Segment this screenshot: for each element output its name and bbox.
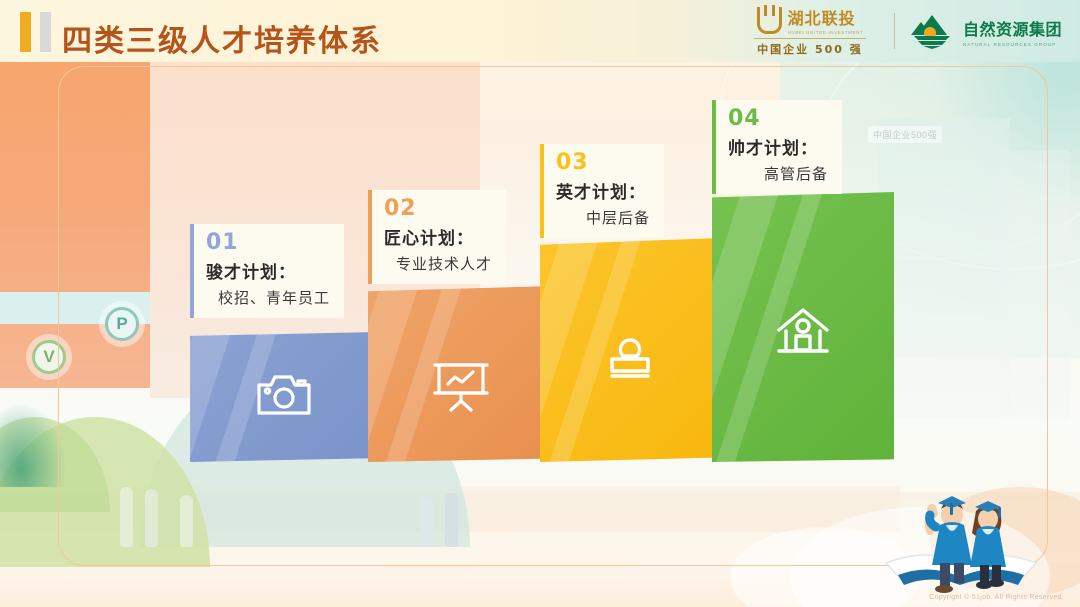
camera-icon (255, 372, 313, 423)
step-block-01 (190, 332, 377, 462)
logo-divider (754, 38, 866, 39)
step-label-03: 03 英才计划： 中层后备 (540, 144, 664, 238)
logo-secondary-name-en: NATURAL RESOURCES GROUP (963, 42, 1062, 47)
title-accent-bar-gray (40, 12, 51, 52)
mountain-sun-icon (909, 13, 955, 49)
logo-primary-name-en: HUBEI UNITED INVESTMENT (788, 30, 864, 35)
step-number: 04 (728, 106, 828, 131)
logo-separator (894, 13, 895, 49)
step-number: 01 (206, 230, 330, 255)
header-bar: 四类三级人才培养体系 湖北联投 HUBEI UNITED INVESTMENT … (0, 0, 1080, 62)
step-number: 02 (384, 196, 492, 221)
step-block-03 (540, 238, 720, 462)
page-title: 四类三级人才培养体系 (62, 16, 382, 60)
step-block-04 (712, 192, 894, 462)
step-label-01: 01 骏才计划： 校招、青年员工 (190, 224, 344, 318)
step-block-02 (368, 286, 553, 462)
step-subtitle: 高管后备 (728, 163, 828, 184)
title-accent-bar-orange (20, 12, 31, 52)
logo-natural-resources-group: 自然资源集团 NATURAL RESOURCES GROUP (909, 13, 1072, 49)
logo-primary-name-cn: 湖北联投 (788, 5, 864, 29)
step-title: 英才计划： (556, 178, 650, 203)
copyright-text: Copyright © 51job. All Rights Reserved. (929, 594, 1064, 601)
logo-hubei-united-investment: 湖北联投 HUBEI UNITED INVESTMENT 中国企业 500 强 (754, 5, 880, 57)
step-subtitle: 专业技术人才 (384, 253, 492, 274)
step-label-02: 02 匠心计划： 专业技术人才 (368, 190, 506, 284)
step-number: 03 (556, 150, 650, 175)
logo-primary-tagline: 中国企业 500 强 (757, 41, 863, 57)
presentation-chart-icon (432, 357, 490, 418)
graduates-illustration (868, 459, 1058, 599)
step-subtitle: 校招、青年员工 (206, 287, 330, 308)
step-subtitle: 中层后备 (556, 207, 650, 228)
u-monogram-icon (757, 7, 782, 34)
logo-group: 湖北联投 HUBEI UNITED INVESTMENT 中国企业 500 强 (754, 0, 1072, 62)
step-title: 帅才计划： (728, 134, 828, 159)
logo-secondary-name-cn: 自然资源集团 (963, 16, 1062, 40)
step-label-04: 04 帅才计划： 高管后备 (712, 100, 842, 194)
step-title: 骏才计划： (206, 258, 330, 283)
title-accent-bars (20, 12, 51, 52)
home-icon (771, 304, 835, 365)
stamp-icon (601, 328, 659, 391)
step-title: 匠心计划： (384, 224, 492, 249)
